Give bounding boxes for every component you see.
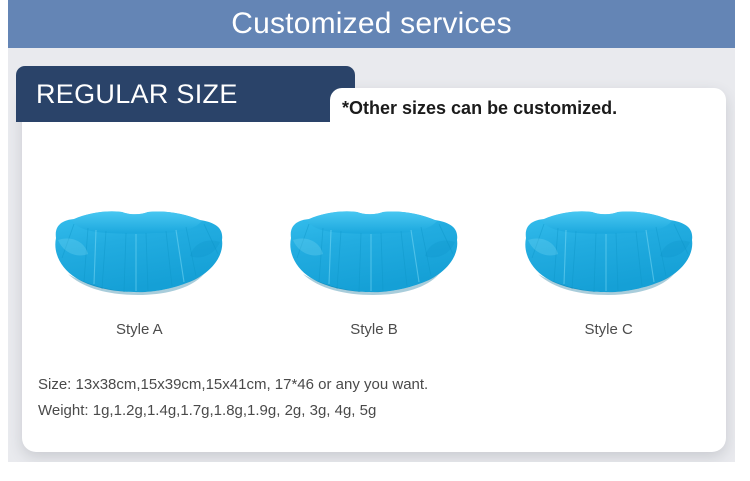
- specification-block: Size: 13x38cm,15x39cm,15x41cm, 17*46 or …: [38, 372, 428, 424]
- right-margin-fill: [735, 0, 750, 481]
- bottom-margin-fill: [0, 462, 750, 481]
- product-style-label: Style C: [585, 322, 633, 337]
- left-margin-fill: [0, 0, 8, 481]
- page-header: Customized services: [8, 0, 735, 48]
- size-spec-line: Size: 13x38cm,15x39cm,15x41cm, 17*46 or …: [38, 372, 428, 398]
- shoe-cover-image-a: [44, 196, 234, 296]
- product-style-c: Style C: [491, 196, 726, 346]
- product-style-b: Style B: [257, 196, 492, 346]
- product-style-label: Style A: [116, 322, 163, 337]
- weight-spec-line: Weight: 1g,1.2g,1.4g,1.7g,1.8g,1.9g, 2g,…: [38, 398, 428, 424]
- product-style-a: Style A: [22, 196, 257, 346]
- product-style-row: Style A: [22, 196, 726, 346]
- regular-size-label: REGULAR SIZE: [16, 81, 238, 108]
- customization-note-text: *Other sizes can be customized.: [330, 99, 617, 117]
- regular-size-banner: REGULAR SIZE: [16, 66, 355, 122]
- shoe-cover-image-b: [279, 196, 469, 296]
- shoe-cover-image-c: [514, 196, 704, 296]
- customized-services-banner: Customized services REGULAR SIZE *Other …: [0, 0, 750, 481]
- product-style-label: Style B: [350, 322, 398, 337]
- customization-note: *Other sizes can be customized.: [330, 88, 726, 128]
- page-title: Customized services: [231, 9, 512, 39]
